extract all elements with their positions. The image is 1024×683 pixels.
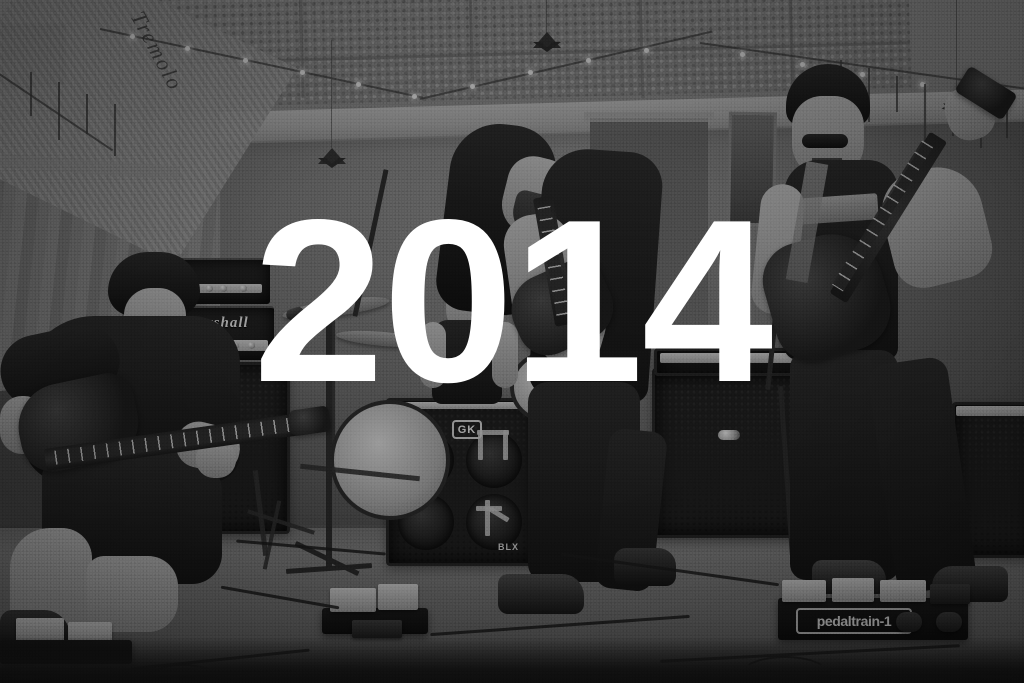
door-frame xyxy=(584,112,714,122)
amp-knob xyxy=(220,285,227,292)
cabinet-handle xyxy=(718,430,740,440)
crane-string xyxy=(331,40,332,148)
pedal xyxy=(880,580,926,602)
tape-mark xyxy=(503,430,508,460)
pedal xyxy=(930,584,970,604)
floor-shadow xyxy=(0,637,1024,683)
shin xyxy=(86,556,178,632)
crane-string xyxy=(546,0,547,34)
photograph: Tremolo xyxy=(0,0,1024,683)
origami-crane xyxy=(318,148,346,164)
shoe xyxy=(498,574,584,614)
pedal xyxy=(352,620,402,638)
crane-string xyxy=(956,0,957,96)
guitar-headstock-left xyxy=(288,405,331,436)
pedal-knob-cluster xyxy=(896,612,922,632)
pedal xyxy=(782,580,826,602)
mic-stand-pole xyxy=(326,318,332,568)
blx-badge: BLX xyxy=(498,542,519,552)
pedalboard-label: pedaltrain-1 xyxy=(796,608,912,634)
pedal xyxy=(832,578,874,602)
shoulder xyxy=(420,322,446,388)
amp-knob xyxy=(248,342,255,349)
pedal xyxy=(378,584,418,610)
amp-knob xyxy=(240,285,247,292)
moustache xyxy=(802,134,848,148)
tape-mark xyxy=(485,500,490,536)
pedal-knob-cluster xyxy=(936,612,962,632)
amp-knob xyxy=(206,285,213,292)
bass-drum xyxy=(330,400,450,520)
far-right-rack xyxy=(956,406,1024,416)
origami-crane xyxy=(533,32,561,48)
photo-canvas: Tremolo xyxy=(0,0,1024,683)
gk-badge: GK xyxy=(452,420,482,439)
shoulder xyxy=(492,322,518,388)
bass-cab-speaker xyxy=(466,432,522,488)
rack-faceplate xyxy=(660,353,796,363)
